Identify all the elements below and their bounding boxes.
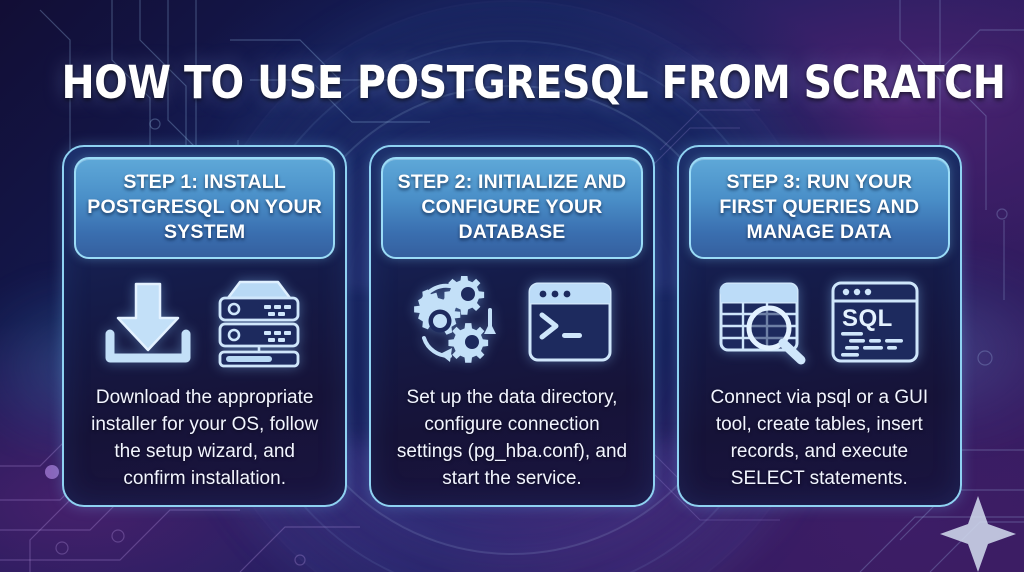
gears-refresh-icon: [410, 276, 510, 368]
step-card-3-body: Connect via psql or a GUI tool, create t…: [689, 381, 950, 505]
svg-text:SQL: SQL: [842, 305, 893, 332]
step-card-2[interactable]: STEP 2: INITIALIZE AND CONFIGURE YOUR DA…: [369, 145, 654, 507]
download-arrow-icon: [102, 278, 194, 366]
server-stack-icon: [210, 276, 308, 368]
step-card-2-header-text: STEP 2: INITIALIZE AND CONFIGURE YOUR DA…: [389, 170, 634, 245]
page-title: HOW TO USE POSTGRESQL FROM SCRATCH: [61, 56, 962, 109]
terminal-window-icon: [526, 279, 614, 365]
step-card-3-icons: SQL: [717, 263, 921, 381]
step-card-1[interactable]: STEP 1: INSTALL POSTGRESQL ON YOUR SYSTE…: [62, 145, 347, 507]
step-card-2-header: STEP 2: INITIALIZE AND CONFIGURE YOUR DA…: [381, 157, 642, 259]
step-card-1-body: Download the appropriate installer for y…: [74, 381, 335, 505]
table-search-icon: [717, 278, 813, 366]
step-card-3[interactable]: STEP 3: RUN YOUR FIRST QUERIES AND MANAG…: [677, 145, 962, 507]
step-card-2-body-text: Set up the data directory, configure con…: [395, 385, 628, 493]
step-card-3-body-text: Connect via psql or a GUI tool, create t…: [703, 385, 936, 493]
step-card-2-icons: [410, 263, 614, 381]
sql-window-icon: SQL: [829, 278, 921, 366]
step-card-3-header-text: STEP 3: RUN YOUR FIRST QUERIES AND MANAG…: [697, 170, 942, 245]
step-card-2-body: Set up the data directory, configure con…: [381, 381, 642, 505]
step-card-1-header: STEP 1: INSTALL POSTGRESQL ON YOUR SYSTE…: [74, 157, 335, 259]
step-card-1-body-text: Download the appropriate installer for y…: [88, 385, 321, 493]
step-card-3-header: STEP 3: RUN YOUR FIRST QUERIES AND MANAG…: [689, 157, 950, 259]
step-cards: STEP 1: INSTALL POSTGRESQL ON YOUR SYSTE…: [62, 145, 962, 507]
step-card-1-header-text: STEP 1: INSTALL POSTGRESQL ON YOUR SYSTE…: [82, 170, 327, 245]
infographic-content: HOW TO USE POSTGRESQL FROM SCRATCH STEP …: [0, 0, 1024, 572]
step-card-1-icons: [102, 263, 308, 381]
